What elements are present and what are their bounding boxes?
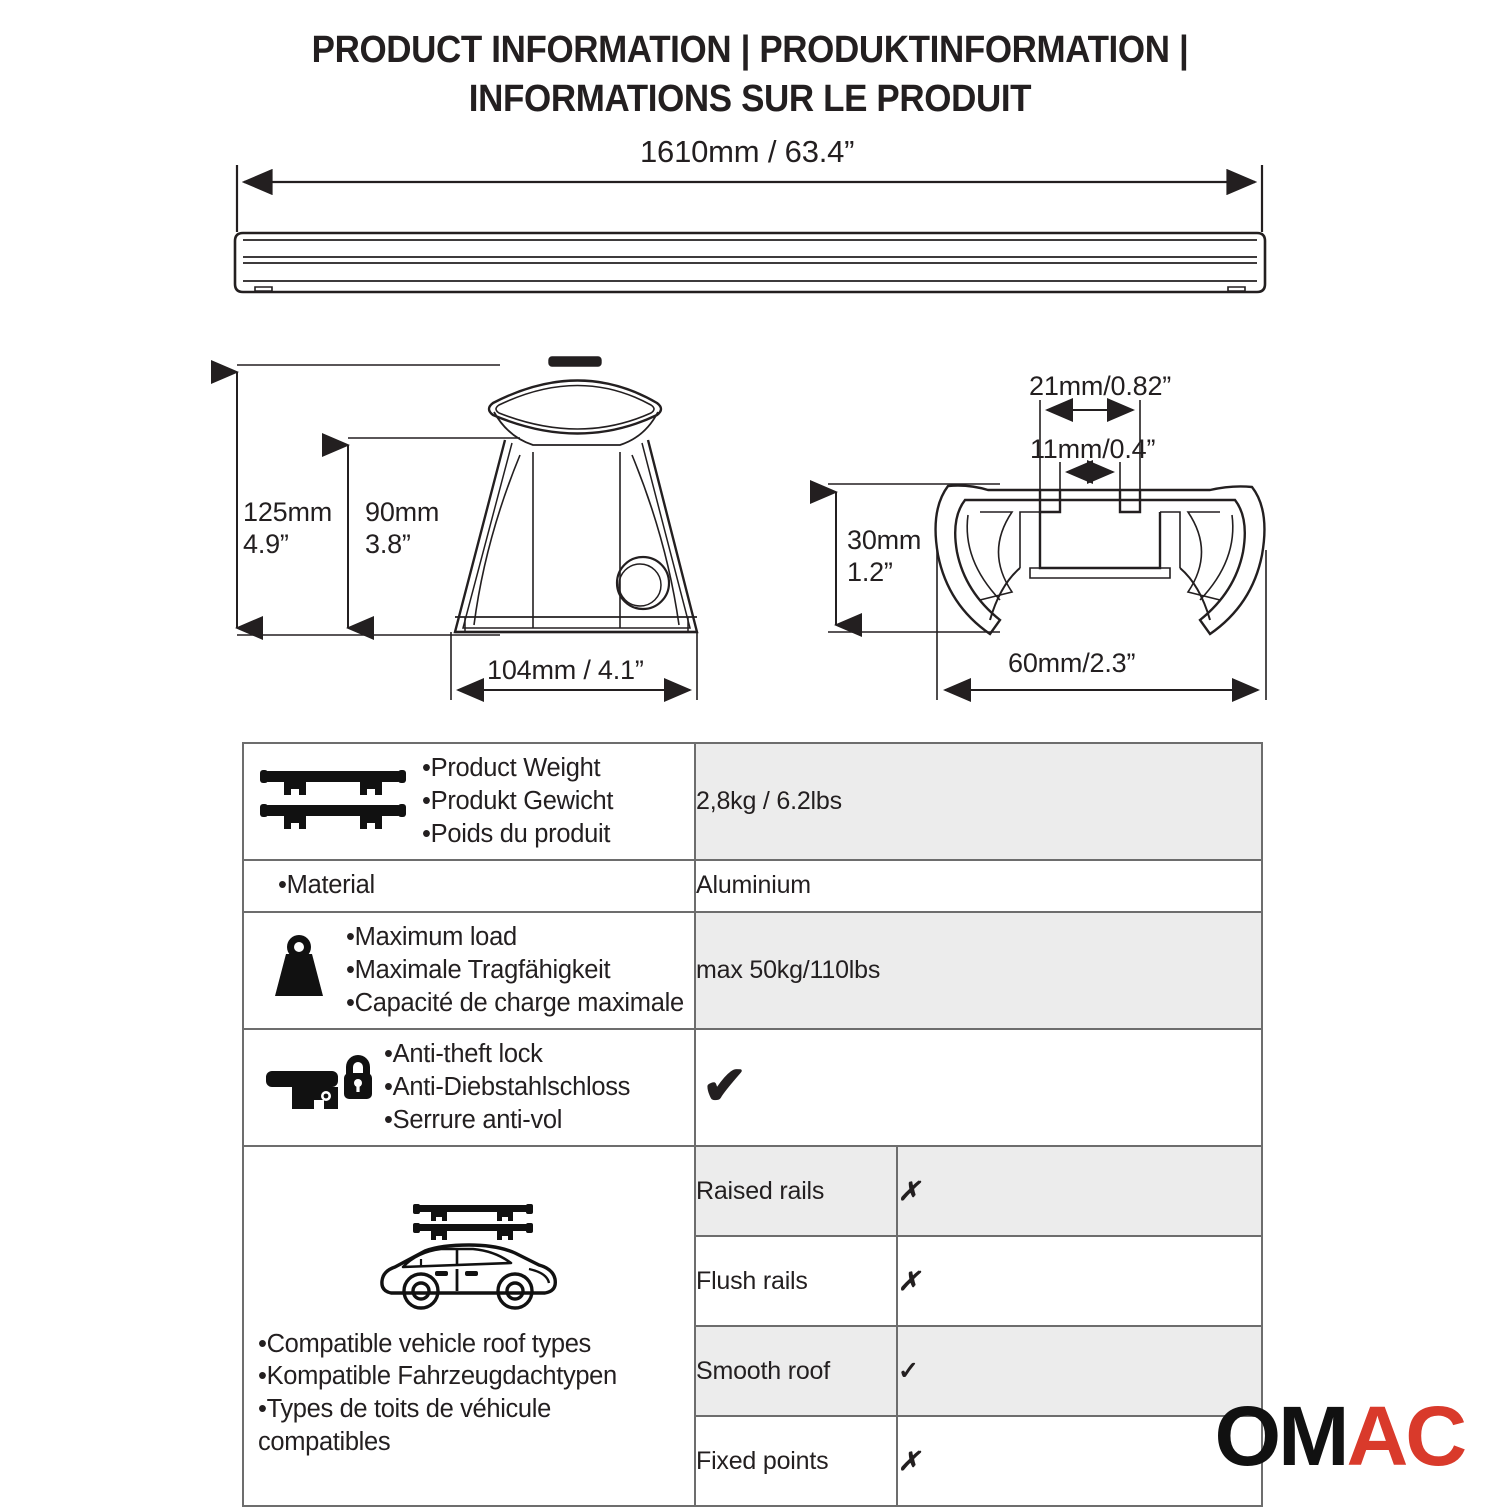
compat-label-text: •Compatible vehicle roof types •Kompatib… [244,1328,694,1459]
subtable-row-raised-rails: Raised rails ✗ [696,1147,1261,1236]
roof-type-subtable: Raised rails ✗ Flush rails ✗ Smooth roof… [696,1147,1261,1505]
roof-type-label: Fixed points [696,1416,897,1505]
label-line-en: •Anti-theft lock [384,1040,543,1068]
label-line-de: •Anti-Diebstahlschloss [384,1073,630,1101]
label-line-en: •Maximum load [346,923,517,951]
checkmark-icon: ✔ [696,1065,747,1108]
compat-label-cell: •Compatible vehicle roof types •Kompatib… [243,1146,695,1506]
row-value-anti-theft-lock: ✔ [695,1029,1262,1146]
car-with-rack-icon [244,1195,694,1328]
roof-type-label: Flush rails [696,1236,897,1326]
roof-type-value-cross-icon: ✗ [897,1236,1261,1326]
label-line-fr: •Capacité de charge maximale [346,989,684,1017]
label-line-de: •Maximale Tragfähigkeit [346,956,610,984]
page-title-line1: PRODUCT INFORMATION | PRODUKTINFORMATION… [312,29,1189,71]
row-value-product-weight: 2,8kg / 6.2lbs [695,743,1262,860]
compat-line-de: •Kompatible Fahrzeugdachtypen [258,1362,617,1390]
row-label-text: •Product Weight •Produkt Gewicht •Poids … [422,752,613,851]
profile-width-label: 60mm/2.3” [1008,648,1135,680]
table-row-product-weight: •Product Weight •Produkt Gewicht •Poids … [243,743,1262,860]
table-row-compatible-roof-types: •Compatible vehicle roof types •Kompatib… [243,1146,1262,1506]
compat-subtable-cell: Raised rails ✗ Flush rails ✗ Smooth roof… [695,1146,1262,1506]
tower-width-label: 104mm / 4.1” [487,655,644,687]
compat-line-fr: •Types de toits de véhicule [258,1395,551,1423]
profile-height-label: 30mm 1.2” [847,525,987,589]
bar-length-label: 1610mm / 63.4” [640,134,854,171]
roof-type-label: Smooth roof [696,1326,897,1416]
subtable-row-fixed-points: Fixed points ✗ [696,1416,1261,1505]
row-label-cell: •Product Weight •Produkt Gewicht •Poids … [243,743,695,860]
tower-front-view [455,357,697,632]
subtable-row-flush-rails: Flush rails ✗ [696,1236,1261,1326]
row-value-material: Aluminium [695,860,1262,911]
crossbars-icon [258,765,408,838]
row-label-text: •Anti-theft lock •Anti-Diebstahlschloss … [384,1038,630,1137]
row-label-cell: •Anti-theft lock •Anti-Diebstahlschloss … [243,1029,695,1146]
row-label-text: •Maximum load •Maximale Tragfähigkeit •C… [346,921,684,1020]
product-information-sheet: PRODUCT INFORMATION | PRODUKTINFORMATION… [0,0,1500,1500]
table-row-maximum-load: •Maximum load •Maximale Tragfähigkeit •C… [243,912,1262,1029]
page-title: PRODUCT INFORMATION | PRODUKTINFORMATION… [60,26,1440,123]
table-row-material: •Material Aluminium [243,860,1262,911]
subtable-row-smooth-roof: Smooth roof ✓ [696,1326,1261,1416]
row-label-cell: •Maximum load •Maximale Tragfähigkeit •C… [243,912,695,1029]
row-label-cell: •Material [243,860,695,911]
lock-icon [262,1047,372,1128]
roof-type-value-cross-icon: ✗ [897,1416,1261,1505]
specification-table: •Product Weight •Produkt Gewicht •Poids … [242,742,1263,1507]
profile-top-width-label: 21mm/0.82” [1029,371,1171,403]
weight-icon [262,930,336,1011]
roof-type-label: Raised rails [696,1147,897,1236]
bar-length-dimension [237,165,1262,232]
roof-type-value-cross-icon: ✗ [897,1147,1261,1236]
table-row-anti-theft-lock: •Anti-theft lock •Anti-Diebstahlschloss … [243,1029,1262,1146]
compat-line-fr2: compatibles [258,1428,390,1456]
logo-text-red: AC [1347,1394,1465,1478]
row-label-text: •Material [278,869,375,902]
label-line-en: •Product Weight [422,754,600,782]
tower-height-inner-label: 90mm 3.8” [365,497,485,561]
omac-logo: OMAC [1215,1394,1465,1478]
label-line-de: •Produkt Gewicht [422,787,613,815]
page-title-line2: INFORMATIONS SUR LE PRODUIT [60,75,1440,124]
row-value-maximum-load: max 50kg/110lbs [695,912,1262,1029]
roof-type-value-check-icon: ✓ [897,1326,1261,1416]
compat-line-en: •Compatible vehicle roof types [258,1330,591,1358]
logo-text-black: OM [1215,1394,1347,1478]
label-line-fr: •Serrure anti-vol [384,1106,562,1134]
label-line-fr: •Poids du produit [422,820,610,848]
crossbar-side-view [235,233,1265,292]
profile-slot-width-label: 11mm/0.4” [1030,434,1155,466]
tower-height-total-label: 125mm 4.9” [243,497,363,561]
